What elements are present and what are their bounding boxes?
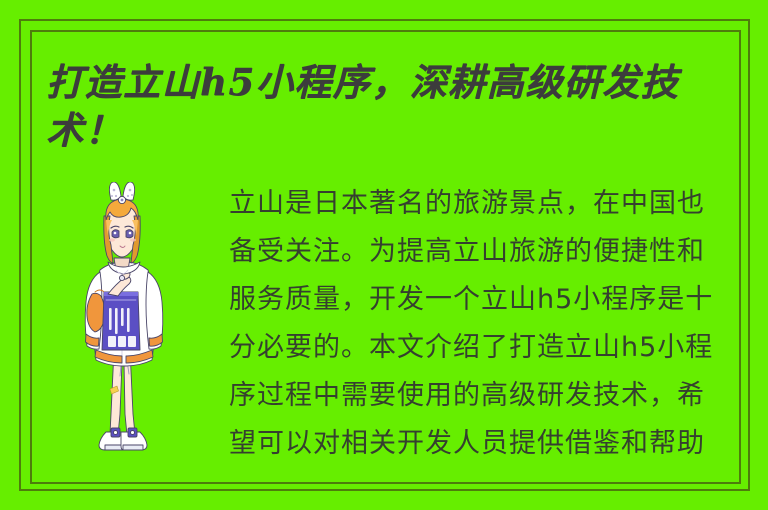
article-body: 立山是日本著名的旅游景点，在中国也 备受关注。为提高立山旅游的便捷性和 服务质量… <box>229 180 725 468</box>
body-line: 序过程中需要使用的高级研发技术，希 <box>229 372 725 420</box>
body-line: 立山是日本著名的旅游景点，在中国也 <box>229 180 725 228</box>
body-line: 分必要的。本文介绍了打造立山h5小程 <box>229 324 725 372</box>
body-line: 望可以对相关开发人员提供借鉴和帮助 <box>229 420 725 468</box>
poster-canvas: 打造立山h5小程序，深耕高级研发技术！ 立山是日本著名的旅游景点，在中国也 备受… <box>0 0 768 510</box>
body-line: 备受关注。为提高立山旅游的便捷性和 <box>229 228 725 276</box>
page-title: 打造立山h5小程序，深耕高级研发技术！ <box>46 58 736 154</box>
anime-girl-illustration <box>78 182 170 474</box>
body-line: 服务质量，开发一个立山h5小程序是十 <box>229 276 725 324</box>
